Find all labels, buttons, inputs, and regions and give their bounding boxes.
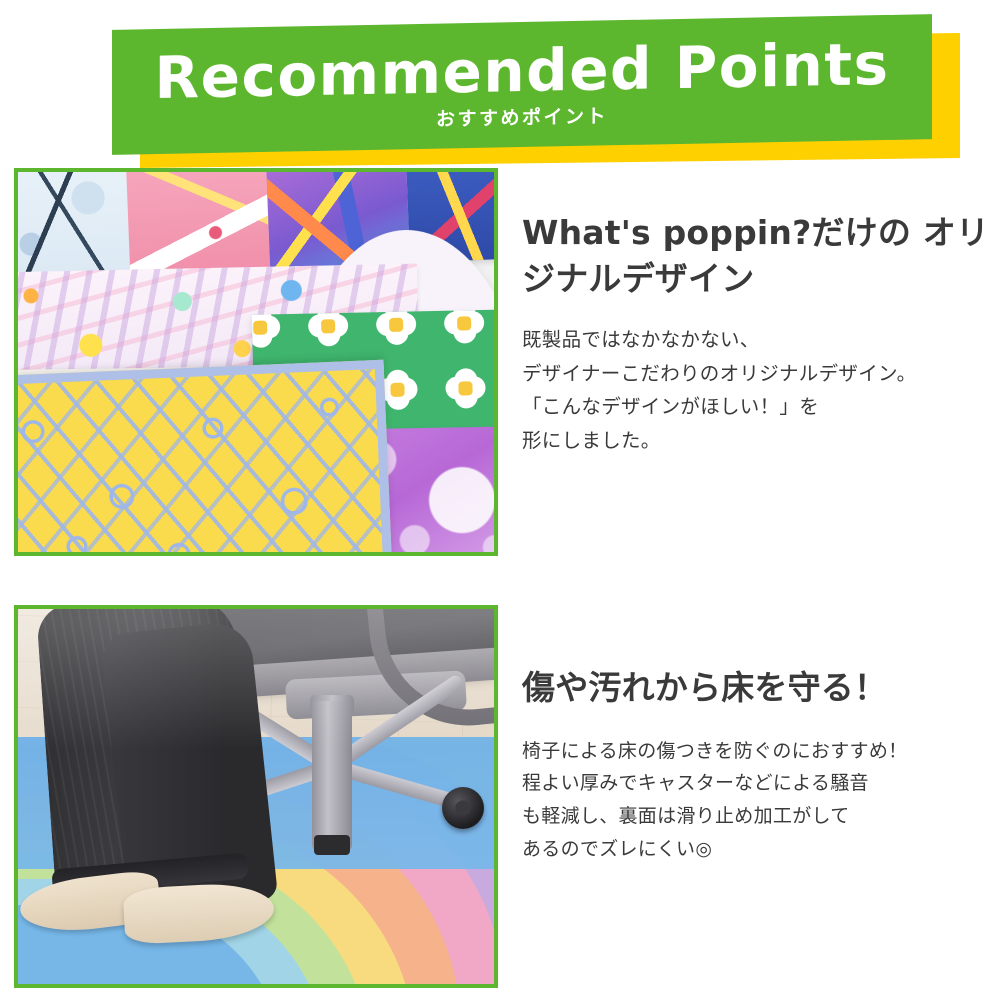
text-column-1: What's poppin?だけの オリジナルデザイン 既製品ではなかなかない、… [522, 168, 992, 457]
chair-caster-wheel [442, 787, 484, 829]
photo-chair-on-mat [18, 609, 494, 984]
banner-green-panel [112, 14, 932, 155]
feature-section-2: 傷や汚れから床を守る！ 椅子による床の傷つきを防ぐのにおすすめ！ 程よい厚みでキ… [14, 605, 992, 988]
mat-yellow-squiggle-pattern [18, 360, 392, 552]
flower-icon [252, 309, 281, 347]
photo-frame-patterns [14, 168, 498, 556]
feature-section-1: What's poppin?だけの オリジナルデザイン 既製品ではなかなかない、… [14, 168, 992, 556]
feature-body-1: 既製品ではなかなかない、 デザイナーこだわりのオリジナルデザイン。 「こんなデザ… [522, 323, 992, 457]
promo-page: Recommended Points おすすめポイント [0, 0, 1000, 1000]
photo-patterns [18, 172, 494, 552]
feature-heading-1: What's poppin?だけの オリジナルデザイン [522, 210, 992, 301]
photo-frame-chair [14, 605, 498, 988]
flower-icon [445, 367, 486, 408]
feature-body-2: 椅子による床の傷つきを防ぐのにおすすめ！ 程よい厚みでキャスターなどによる騒音 … [522, 735, 992, 866]
chair-cylinder-foot [314, 835, 350, 855]
text-column-2: 傷や汚れから床を守る！ 椅子による床の傷つきを防ぐのにおすすめ！ 程よい厚みでキ… [522, 605, 992, 865]
flower-icon [376, 309, 417, 345]
feature-heading-2: 傷や汚れから床を守る！ [522, 665, 992, 711]
mat-pink-pattern [126, 172, 270, 273]
flower-icon [444, 309, 485, 343]
mat-blueprint-pattern [18, 172, 130, 279]
flower-icon [308, 309, 349, 346]
header-banner: Recommended Points おすすめポイント [0, 0, 1000, 170]
chair-gas-cylinder [312, 701, 352, 851]
